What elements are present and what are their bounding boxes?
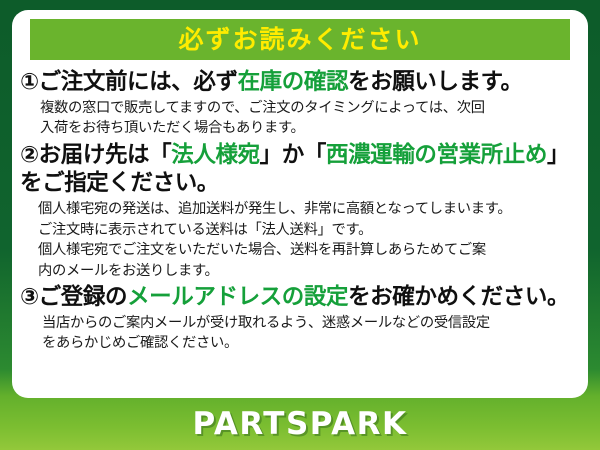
section-3-body-line-2: をあらかじめご確認ください。: [42, 333, 582, 353]
section-3-headline-highlight: メールアドレスの設定: [127, 284, 348, 310]
section-1-headline: ①ご注文前には、必ず在庫の確認をお願いします。: [20, 68, 582, 97]
section-1-marker: ①: [20, 69, 39, 95]
section-3-headline-part-1: ご登録の: [39, 284, 127, 310]
section-2-headline-line-2: をご指定ください。: [20, 169, 582, 198]
notice-sections: ①ご注文前には、必ず在庫の確認をお願いします。 複数の窓口で販売してますので、ご…: [12, 68, 588, 356]
section-2-body: 個人様宅宛の発送は、追加送料が発生し、非常に高額となってしまいます。 ご注文時に…: [20, 199, 582, 281]
notice-section-1: ①ご注文前には、必ず在庫の確認をお願いします。 複数の窓口で販売してますので、ご…: [20, 68, 582, 139]
section-3-body: 当店からのご案内メールが受け取れるよう、迷惑メールなどの受信設定 をあらかじめご…: [20, 313, 582, 354]
section-2-headline-highlight-1: 法人様宛: [171, 142, 259, 168]
notice-section-3: ③ご登録のメールアドレスの設定をお確かめください。 当店からのご案内メールが受け…: [20, 283, 582, 354]
section-2-headline: ②お届け先は「法人様宛」か「西濃運輸の営業所止め」: [20, 141, 582, 170]
section-1-headline-part-3: をお願いします。: [348, 69, 523, 95]
section-3-marker: ③: [20, 284, 39, 310]
section-2-headline-highlight-2: 西濃運輸の営業所止め: [326, 142, 547, 168]
section-2-body-line-2: ご注文時に表示されている送料は「法人送料」です。: [38, 220, 582, 240]
section-1-body: 複数の窓口で販売してますので、ご注文のタイミングによっては、次回 入荷をお待ち頂…: [20, 98, 582, 139]
section-2-marker: ②: [20, 142, 39, 168]
section-2-body-line-4: 内のメールをお送りします。: [38, 261, 582, 281]
section-2-headline-part-3: 」か「: [260, 142, 326, 168]
section-3-headline: ③ご登録のメールアドレスの設定をお確かめください。: [20, 283, 582, 312]
section-1-headline-highlight: 在庫の確認: [238, 69, 349, 95]
banner-title: 必ずお読みください: [178, 27, 421, 52]
notice-card: 必ずお読みください ①ご注文前には、必ず在庫の確認をお願いします。 複数の窓口で…: [12, 10, 588, 398]
banner-footer: PARTSPARK: [0, 398, 600, 450]
section-1-body-line-1: 複数の窓口で販売してますので、ご注文のタイミングによっては、次回: [40, 98, 582, 118]
section-3-body-line-1: 当店からのご案内メールが受け取れるよう、迷惑メールなどの受信設定: [42, 313, 582, 333]
section-3-headline-part-3: をお確かめください。: [348, 284, 569, 310]
section-2-headline-part-5: 」: [547, 142, 569, 168]
section-1-headline-part-1: ご注文前には、必ず: [39, 69, 238, 95]
banner-header-bar: 必ずお読みください: [30, 19, 570, 60]
notice-section-2: ②お届け先は「法人様宛」か「西濃運輸の営業所止め」 をご指定ください。 個人様宅…: [20, 141, 582, 281]
partspark-logo: PARTSPARK: [192, 409, 407, 440]
section-2-body-line-3: 個人様宅宛でご注文をいただいた場合、送料を再計算しあらためてご案: [38, 240, 582, 260]
notice-banner: 必ずお読みください ①ご注文前には、必ず在庫の確認をお願いします。 複数の窓口で…: [0, 0, 600, 450]
section-2-headline-part-1: お届け先は「: [39, 142, 172, 168]
section-2-body-line-1: 個人様宅宛の発送は、追加送料が発生し、非常に高額となってしまいます。: [38, 199, 582, 219]
section-1-body-line-2: 入荷をお待ち頂いただく場合もあります。: [40, 118, 582, 138]
section-2-headline-part-6: をご指定ください。: [20, 170, 219, 196]
